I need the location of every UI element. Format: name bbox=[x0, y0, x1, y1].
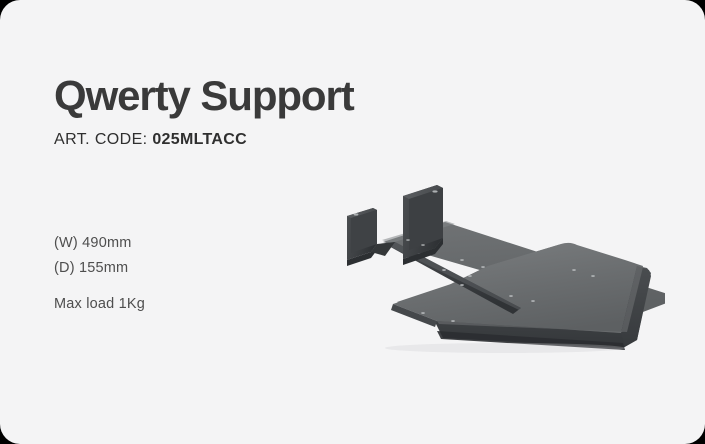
product-shadow bbox=[385, 343, 625, 353]
spec-depth: (D) 155mm bbox=[54, 256, 314, 281]
spec-width: (W) 490mm bbox=[54, 231, 314, 256]
page-title: Qwerty Support bbox=[54, 72, 354, 120]
product-text-block: Qwerty Support ART. CODE: 025MLTACC bbox=[54, 72, 354, 150]
product-image bbox=[325, 180, 665, 360]
art-code-label: ART. CODE: bbox=[54, 131, 148, 148]
keyboard-tray-bracket-illustration bbox=[325, 180, 665, 360]
fin-right-hole bbox=[432, 190, 437, 192]
art-code-value: 025MLTACC bbox=[152, 131, 247, 148]
art-code-line: ART. CODE: 025MLTACC bbox=[54, 120, 354, 150]
product-dimensions: (W) 490mm (D) 155mm bbox=[54, 231, 314, 281]
spec-max-load: Max load 1Kg bbox=[54, 293, 145, 315]
fin-left-hole bbox=[354, 213, 359, 215]
product-card: Qwerty Support ART. CODE: 025MLTACC (W) … bbox=[0, 0, 705, 444]
